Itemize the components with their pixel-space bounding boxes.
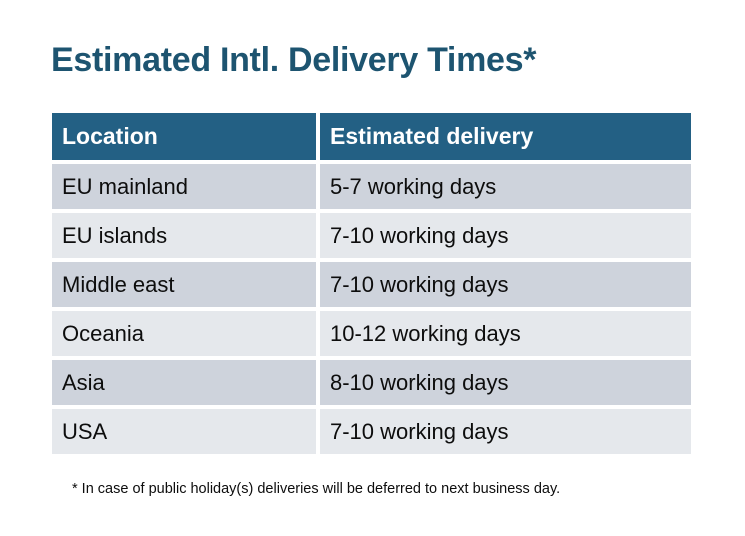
table-row: EU islands 7-10 working days [52, 213, 691, 258]
estimated-delivery-times-table: Location Estimated delivery EU mainland … [52, 113, 691, 454]
cell-estimated-delivery: 5-7 working days [320, 164, 691, 209]
cell-location: USA [52, 409, 316, 454]
table-header-row: Location Estimated delivery [52, 113, 691, 160]
table-row: USA 7-10 working days [52, 409, 691, 454]
table-row: Middle east 7-10 working days [52, 262, 691, 307]
footnote-public-holiday: * In case of public holiday(s) deliverie… [72, 481, 560, 497]
table-row: Oceania 10-12 working days [52, 311, 691, 356]
cell-estimated-delivery: 7-10 working days [320, 409, 691, 454]
cell-estimated-delivery: 10-12 working days [320, 311, 691, 356]
cell-location: EU mainland [52, 164, 316, 209]
table-row: EU mainland 5-7 working days [52, 164, 691, 209]
page-title: Estimated Intl. Delivery Times* [51, 38, 536, 82]
cell-estimated-delivery: 7-10 working days [320, 262, 691, 307]
cell-estimated-delivery: 8-10 working days [320, 360, 691, 405]
column-header-location: Location [52, 113, 316, 160]
cell-location: Oceania [52, 311, 316, 356]
cell-location: Middle east [52, 262, 316, 307]
delivery-times-page: Estimated Intl. Delivery Times* Location… [0, 0, 745, 536]
cell-location: Asia [52, 360, 316, 405]
column-header-estimated-delivery: Estimated delivery [320, 113, 691, 160]
cell-location: EU islands [52, 213, 316, 258]
cell-estimated-delivery: 7-10 working days [320, 213, 691, 258]
table-row: Asia 8-10 working days [52, 360, 691, 405]
